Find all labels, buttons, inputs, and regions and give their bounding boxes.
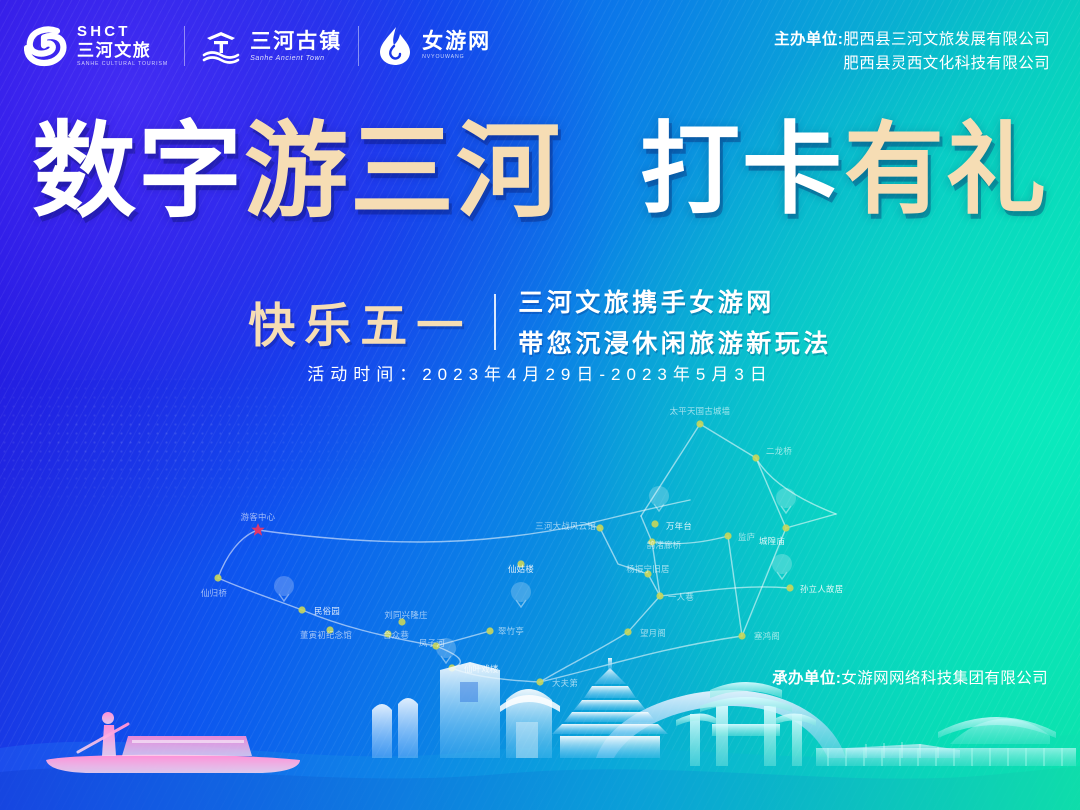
logo-nvyouwang[interactable]: 女游网 NVYOUWANG xyxy=(359,24,507,68)
headline: 数字 游三河 打卡 有礼 xyxy=(0,118,1080,224)
map-marker-dot[interactable] xyxy=(624,628,631,635)
map-point-label: 民俗园 xyxy=(314,606,340,616)
map-point-label: 刘同兴隆庄 xyxy=(384,610,427,620)
poster: SHCT 三河文旅 SANHE CULTURAL TOURISM 三河古镇 Sa… xyxy=(0,0,1080,810)
map-point-label: 万年台 xyxy=(666,521,692,531)
logo-sanhe-culture-tourism[interactable]: SHCT 三河文旅 SANHE CULTURAL TOURISM xyxy=(24,24,184,68)
subtitle-row: 快乐五一 三河文旅携手女游网 带您沉浸休闲旅游新玩法 xyxy=(0,283,1080,360)
map-marker-dot[interactable] xyxy=(596,524,603,531)
logo-bar: SHCT 三河文旅 SANHE CULTURAL TOURISM 三河古镇 Sa… xyxy=(24,24,507,68)
logo-text-block: SHCT 三河文旅 SANHE CULTURAL TOURISM xyxy=(77,24,168,67)
map-marker-dot[interactable] xyxy=(782,524,789,531)
map-marker-dot[interactable] xyxy=(214,574,221,581)
map-point-label: 一人巷 xyxy=(668,592,694,602)
map-point-label: 城隍庙 xyxy=(759,536,785,546)
map-marker-dot[interactable] xyxy=(738,632,745,639)
village-buildings-left xyxy=(372,662,560,758)
map-point-label: 合众巷 xyxy=(383,630,409,640)
map-pin-icon xyxy=(511,582,531,607)
logo-en: Sanhe Ancient Town xyxy=(250,55,342,62)
map-point-label: 仙归桥 xyxy=(201,588,227,598)
subtitle-divider xyxy=(494,294,496,350)
skyline-svg xyxy=(0,640,1080,810)
headline-group-1: 数字 游三河 xyxy=(32,118,562,224)
map-pin-icon xyxy=(772,554,792,579)
headline-part1-cream: 游三河 xyxy=(244,118,562,224)
map-marker-dot[interactable] xyxy=(656,592,663,599)
logo-cn: 三河文旅 xyxy=(77,42,168,59)
map-start-star-icon xyxy=(251,523,264,536)
skyline-illustration xyxy=(0,640,1080,810)
map-marker-dot[interactable] xyxy=(724,532,731,539)
map-marker-dot[interactable] xyxy=(696,420,703,427)
subtitle-main: 快乐五一 xyxy=(248,287,472,356)
map-pin-icon xyxy=(274,576,294,601)
headline-group-2: 打卡 有礼 xyxy=(640,118,1048,220)
logo-latin: SHCT xyxy=(77,24,168,39)
map-point-label: 三河大战风云馆 xyxy=(535,521,596,531)
organizer-top-label: 主办单位: xyxy=(774,31,843,48)
covered-corridor-bridge xyxy=(816,717,1076,766)
map-point-label: 孙立人故居 xyxy=(800,584,843,594)
subtitle-line-2: 带您沉浸休闲旅游新玩法 xyxy=(518,324,832,360)
map-point-label: 游客中心 xyxy=(241,512,276,522)
organizer-top-line-1: 主办单位:肥西县三河文旅发展有限公司 xyxy=(774,28,1050,52)
logo-cn: 女游网 xyxy=(422,31,491,52)
map-point-label: 仙姑楼 xyxy=(508,564,534,574)
logo-sanhe-ancient-town[interactable]: 三河古镇 Sanhe Ancient Town xyxy=(185,25,358,67)
map-point-label: 董寅初纪念馆 xyxy=(300,630,352,640)
headline-part2-cream: 有礼 xyxy=(844,118,1048,220)
logo-text-block: 三河古镇 Sanhe Ancient Town xyxy=(250,31,342,62)
event-date: 活动时间：2023年4月29日-2023年5月3日 xyxy=(0,360,1080,385)
map-point-label: 二龙桥 xyxy=(766,446,792,456)
ancient-gate-wave-icon xyxy=(201,25,243,67)
water-drop-flame-icon xyxy=(375,24,415,68)
logo-sub: SANHE CULTURAL TOURISM xyxy=(77,62,168,67)
map-point-label: 杨振宁旧居 xyxy=(626,564,669,574)
map-marker-dot[interactable] xyxy=(486,627,493,634)
map-point-label: 鹊渚廊桥 xyxy=(647,540,682,550)
subtitle-lines: 三河文旅携手女游网 带您沉浸休闲旅游新玩法 xyxy=(518,283,832,360)
headline-part2-white: 打卡 xyxy=(640,118,844,220)
map-point-label: 监庐 xyxy=(738,532,755,542)
shct-swirl-icon xyxy=(24,24,70,68)
map-marker-dot[interactable] xyxy=(651,520,658,527)
map-marker-dot[interactable] xyxy=(752,454,759,461)
subtitle-line-1: 三河文旅携手女游网 xyxy=(518,283,832,319)
headline-part1-white: 数字 xyxy=(32,118,244,224)
map-point-label: 翠竹亭 xyxy=(498,626,524,636)
map-point-label: 太平天国古城墙 xyxy=(670,406,731,416)
organizer-top-name-1: 肥西县三河文旅发展有限公司 xyxy=(843,31,1050,48)
logo-en: NVYOUWANG xyxy=(422,55,491,60)
map-marker-dot[interactable] xyxy=(786,584,793,591)
organizer-top-line-2: 肥西县灵西文化科技有限公司 xyxy=(774,52,1050,76)
map-point-label: 望月阁 xyxy=(640,628,666,638)
map-marker-dot[interactable] xyxy=(298,606,305,613)
logo-text-block: 女游网 NVYOUWANG xyxy=(422,31,491,60)
organizer-top: 主办单位:肥西县三河文旅发展有限公司 肥西县灵西文化科技有限公司 xyxy=(774,28,1050,76)
header: SHCT 三河文旅 SANHE CULTURAL TOURISM 三河古镇 Sa… xyxy=(0,0,1080,96)
logo-cn: 三河古镇 xyxy=(250,31,342,52)
map-pin-icon xyxy=(776,488,796,513)
